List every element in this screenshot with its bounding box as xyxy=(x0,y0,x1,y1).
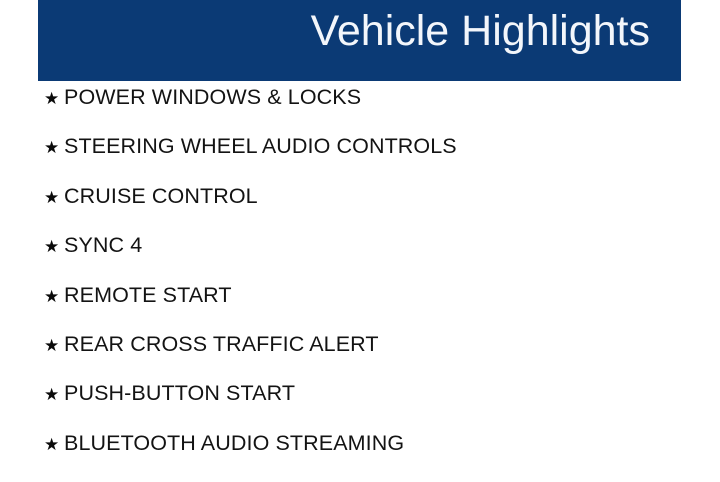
list-item-label: SYNC 4 xyxy=(64,235,142,257)
star-icon: ★ xyxy=(44,337,64,354)
list-item-label: POWER WINDOWS & LOCKS xyxy=(64,87,361,109)
star-icon: ★ xyxy=(44,386,64,403)
list-item-label: REAR CROSS TRAFFIC ALERT xyxy=(64,334,379,356)
list-item-label: PUSH-BUTTON START xyxy=(64,383,295,405)
list-item: ★ STEERING WHEEL AUDIO CONTROLS xyxy=(44,136,704,185)
star-icon: ★ xyxy=(44,288,64,305)
list-item: ★ PUSH-BUTTON START xyxy=(44,383,704,432)
list-item: ★ CRUISE CONTROL xyxy=(44,186,704,235)
list-item-label: REMOTE START xyxy=(64,285,232,307)
list-item-label: BLUETOOTH AUDIO STREAMING xyxy=(64,433,404,455)
list-item: ★ REAR CROSS TRAFFIC ALERT xyxy=(44,334,704,383)
list-item: ★ POWER WINDOWS & LOCKS xyxy=(44,87,704,136)
header-banner: Vehicle Highlights xyxy=(38,0,681,81)
slide-canvas: Vehicle Highlights ★ POWER WINDOWS & LOC… xyxy=(0,0,720,480)
star-icon: ★ xyxy=(44,436,64,453)
list-item: ★ REMOTE START xyxy=(44,285,704,334)
list-item-label: STEERING WHEEL AUDIO CONTROLS xyxy=(64,136,457,158)
list-item: ★ SYNC 4 xyxy=(44,235,704,284)
list-item: ★ BLUETOOTH AUDIO STREAMING xyxy=(44,433,704,482)
star-icon: ★ xyxy=(44,90,64,107)
list-item-label: CRUISE CONTROL xyxy=(64,186,258,208)
star-icon: ★ xyxy=(44,189,64,206)
star-icon: ★ xyxy=(44,238,64,255)
vehicle-highlights-list: ★ POWER WINDOWS & LOCKS ★ STEERING WHEEL… xyxy=(44,87,704,482)
star-icon: ★ xyxy=(44,139,64,156)
page-title: Vehicle Highlights xyxy=(311,10,650,53)
